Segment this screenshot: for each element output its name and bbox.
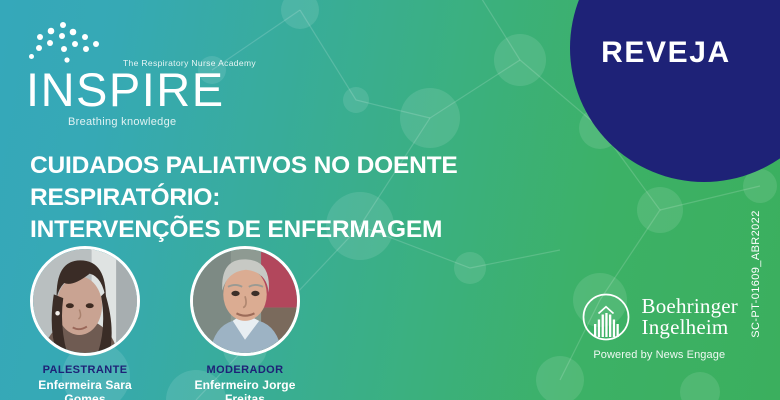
inspire-tagline-bottom: Breathing knowledge: [68, 116, 176, 128]
speaker-card: PALESTRANTE Enfermeira Sara Gomes: [18, 246, 152, 400]
inspire-logo: The Respiratory Nurse Academy INSPIRE Br…: [26, 22, 241, 127]
sponsor-name-line-2: Ingelheim: [642, 317, 738, 338]
speaker-card: MODERADOR Enfermeiro Jorge Freitas: [178, 246, 312, 400]
sponsor-name: Boehringer Ingelheim: [642, 296, 738, 338]
speakers-list: PALESTRANTE Enfermeira Sara Gomes: [18, 246, 312, 400]
speaker-name: Enfermeira Sara Gomes: [18, 378, 152, 400]
webinar-banner: REVEJA The Respiratory Nurse Academy INS…: [0, 0, 780, 400]
page-title-line-1: CUIDADOS PALIATIVOS NO DOENTE RESPIRATÓR…: [30, 150, 650, 214]
inspire-wordmark: INSPIRE: [26, 66, 225, 113]
page-title-line-2: INTERVENÇÕES DE ENFERMAGEM: [30, 214, 650, 246]
inspire-dots-icon: [34, 22, 106, 64]
avatar: [30, 246, 140, 356]
page-title: CUIDADOS PALIATIVOS NO DOENTE RESPIRATÓR…: [30, 150, 650, 246]
reveja-badge-label[interactable]: REVEJA: [576, 36, 756, 70]
speaker-role: MODERADOR: [178, 364, 312, 376]
sponsor-name-line-1: Boehringer: [642, 296, 738, 317]
powered-by-label: Powered by News Engage: [593, 349, 725, 361]
reference-code: SC-PT-01609_ABR2022: [750, 204, 762, 344]
boehringer-ingelheim-icon: [581, 292, 631, 342]
speaker-name: Enfermeiro Jorge Freitas: [178, 378, 312, 400]
sponsor-logo: Boehringer Ingelheim Powered by News Eng…: [581, 292, 738, 361]
speaker-role: PALESTRANTE: [18, 364, 152, 376]
avatar: [190, 246, 300, 356]
